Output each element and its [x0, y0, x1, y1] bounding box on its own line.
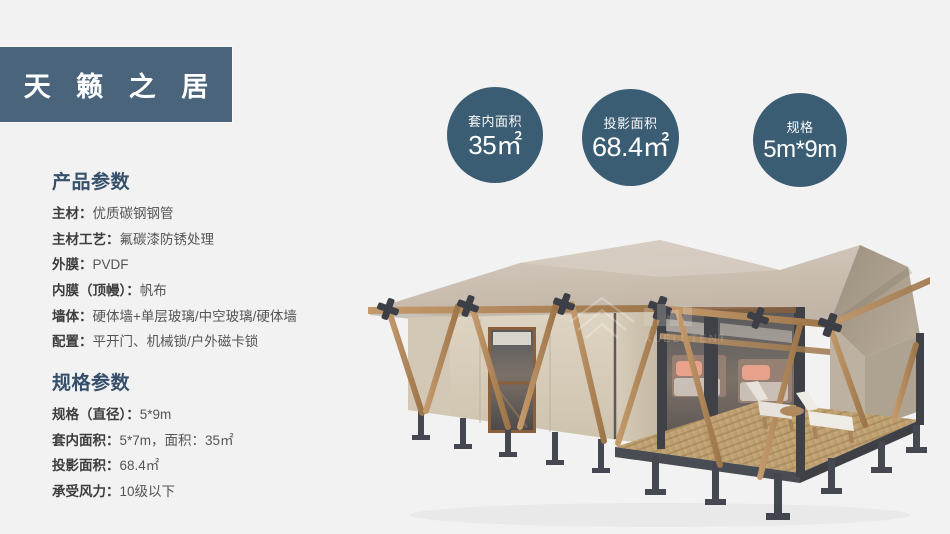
size-parameters-heading: 规格参数 [52, 368, 234, 395]
spec-row: 投影面积：68.4㎡ [52, 458, 234, 474]
spec-row: 墙体：硬体墙+单层玻璃/中空玻璃/硬体墙 [52, 309, 297, 325]
stat-value: 68.4㎡ [592, 133, 669, 163]
spec-value: PVDF [93, 257, 129, 272]
stat-label: 规格 [786, 117, 813, 136]
size-parameters-section: 规格参数 规格（直径）：5*9m 套内面积：5*7m，面积：35㎡ 投影面积：6… [52, 368, 234, 510]
spec-label: 主材工艺： [52, 232, 120, 247]
spec-value: 硬体墙+单层玻璃/中空玻璃/硬体墙 [93, 309, 297, 324]
spec-label: 承受风力： [52, 484, 120, 499]
tent-render-image [360, 215, 950, 534]
stat-label: 套内面积 [468, 111, 522, 130]
stat-circle-dimensions: 规格 5m*9m [753, 93, 847, 187]
spec-value: 5*7m，面积：35㎡ [120, 433, 234, 448]
spec-label: 外膜： [52, 257, 93, 272]
stat-circle-projected-area: 投影面积 68.4㎡ [582, 89, 679, 186]
spec-value: 帆布 [140, 283, 167, 298]
product-parameters-section: 产品参数 主材：优质碳钢钢管 主材工艺：氟碳漆防锈处理 外膜：PVDF 内膜（顶… [52, 167, 297, 360]
stat-circle-interior-area: 套内面积 35㎡ [447, 87, 543, 183]
spec-row: 套内面积：5*7m，面积：35㎡ [52, 433, 234, 449]
spec-row: 内膜（顶幔）：帆布 [52, 283, 297, 299]
spec-value: 68.4㎡ [120, 458, 160, 473]
spec-label: 套内面积： [52, 433, 120, 448]
spec-row: 主材工艺：氟碳漆防锈处理 [52, 232, 297, 248]
spec-label: 墙体： [52, 309, 93, 324]
spec-value: 平开门、机械锁/户外磁卡锁 [93, 334, 259, 349]
stat-label: 投影面积 [603, 113, 657, 132]
stat-value: 5m*9m [763, 137, 837, 163]
spec-label: 规格（直径）： [52, 407, 140, 422]
spec-label: 主材： [52, 206, 93, 221]
page-title: 天 籁 之 居 [15, 65, 218, 104]
title-banner: 天 籁 之 居 [0, 47, 232, 122]
spec-row: 规格（直径）：5*9m [52, 407, 234, 423]
spec-value: 10级以下 [120, 484, 176, 499]
spec-row: 主材：优质碳钢钢管 [52, 206, 297, 222]
spec-row: 配置：平开门、机械锁/户外磁卡锁 [52, 334, 297, 350]
spec-value: 5*9m [140, 407, 172, 422]
spec-label: 内膜（顶幔）： [52, 283, 140, 298]
spec-row: 承受风力：10级以下 [52, 484, 234, 500]
spec-value: 优质碳钢钢管 [93, 206, 174, 221]
stat-value: 35㎡ [468, 131, 521, 160]
spec-label: 配置： [52, 334, 93, 349]
spec-value: 氟碳漆防锈处理 [120, 232, 215, 247]
page-root: 天 籁 之 居 产品参数 主材：优质碳钢钢管 主材工艺：氟碳漆防锈处理 外膜：P… [0, 0, 950, 534]
spec-label: 投影面积： [52, 458, 120, 473]
spec-row: 外膜：PVDF [52, 257, 297, 273]
product-parameters-heading: 产品参数 [52, 167, 297, 194]
